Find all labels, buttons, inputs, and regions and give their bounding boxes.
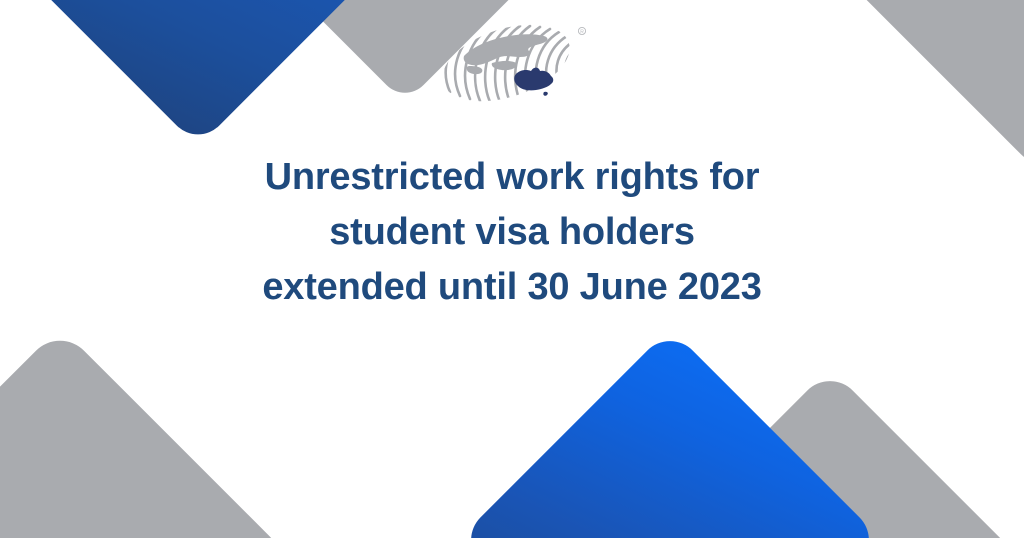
headline-line-2: student visa holders [182,205,842,260]
promo-banner: R Unrestricted work rights for student v… [0,0,1024,538]
bottom-left-gray-diamond-shape [0,327,293,538]
australia-shape [514,68,553,96]
page-title: Unrestricted work rights for student vis… [182,150,842,315]
headline-line-1: Unrestricted work rights for [182,150,842,205]
globe-australia-logo-icon: R [434,22,590,104]
svg-text:R: R [580,30,584,36]
top-blue-diamond-shape [21,0,375,147]
top-right-gray-diamond-shape [812,0,1024,178]
registered-trademark-icon: R [578,27,585,35]
headline-line-3: extended until 30 June 2023 [182,260,842,315]
